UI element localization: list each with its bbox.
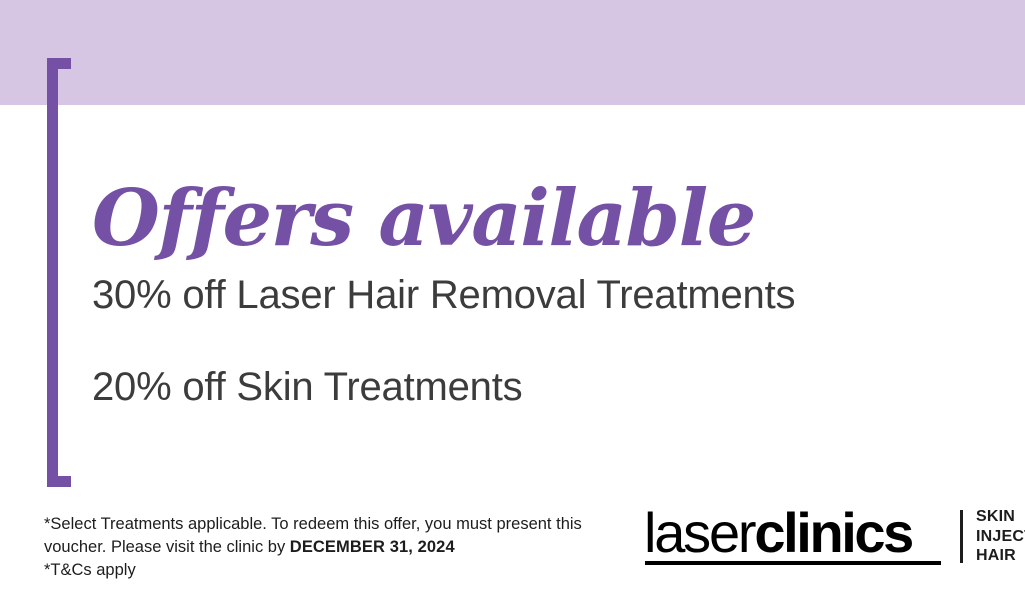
logo-vertical-divider <box>960 510 963 563</box>
laser-clinics-logo: laserclinics SKIN INJECT HAIR <box>644 505 1004 577</box>
bracket-stem <box>47 58 58 487</box>
voucher-footer: *Select Treatments applicable. To redeem… <box>0 505 1025 590</box>
logo-tagline-inject: INJECT <box>976 527 1025 547</box>
page-title: Offers available <box>92 173 755 265</box>
logo-underline-rule <box>645 561 941 565</box>
offer-item-skin-treatments: 20% off Skin Treatments <box>92 364 972 410</box>
offers-list: 30% off Laser Hair Removal Treatments 20… <box>92 272 972 410</box>
logo-wordmark: laserclinics <box>644 505 912 561</box>
voucher-card: Offers available 30% off Laser Hair Remo… <box>0 0 1025 590</box>
logo-tagline-hair: HAIR <box>976 546 1025 566</box>
fineprint-line-1: *Select Treatments applicable. To redeem… <box>44 515 492 533</box>
logo-tagline-skin: SKIN <box>976 507 1025 527</box>
fineprint-line-3: *T&Cs apply <box>44 559 644 582</box>
expiry-date: DECEMBER 31, 2024 <box>290 538 455 556</box>
logo-word-clinics: clinics <box>754 501 912 564</box>
purple-bracket-decoration <box>47 58 77 487</box>
terms-and-conditions-text: *Select Treatments applicable. To redeem… <box>44 513 644 582</box>
bracket-bottom-arm <box>47 476 71 487</box>
offer-item-laser-hair-removal: 30% off Laser Hair Removal Treatments <box>92 272 972 318</box>
logo-tagline: SKIN INJECT HAIR <box>976 507 1025 566</box>
logo-word-laser: laser <box>644 501 754 564</box>
top-banner <box>0 0 1025 105</box>
